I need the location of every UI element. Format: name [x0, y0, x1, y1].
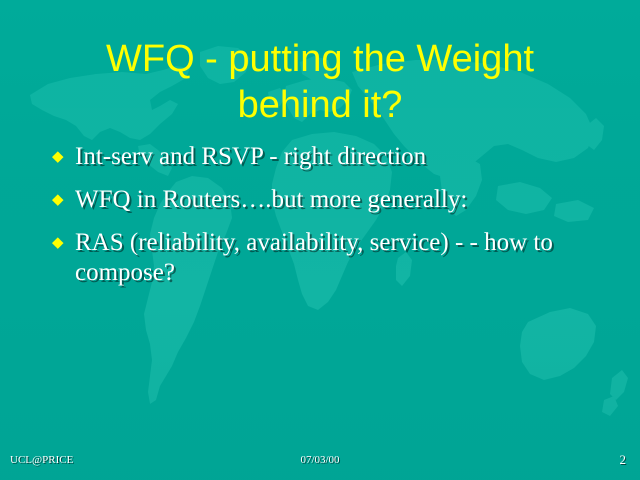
bullet-item: ◆ Int-serv and RSVP - right direction — [52, 142, 608, 172]
slide-footer: UCL@PRICE 07/03/00 2 — [0, 454, 640, 474]
slide-title: WFQ - putting the Weight behind it? — [50, 36, 590, 128]
bullet-item-label: RAS (reliability, availability, service)… — [75, 228, 608, 288]
footer-date: 07/03/00 — [0, 454, 640, 466]
diamond-bullet-icon: ◆ — [52, 185, 75, 207]
bullet-item-label: WFQ in Routers….but more generally: — [75, 185, 608, 215]
bullet-item: ◆ RAS (reliability, availability, servic… — [52, 228, 608, 288]
bullet-item: ◆ WFQ in Routers….but more generally: — [52, 185, 608, 215]
presentation-slide: WFQ - putting the Weight behind it? ◆ In… — [0, 0, 640, 480]
bullet-item-label: Int-serv and RSVP - right direction — [75, 142, 608, 172]
footer-slide-number: 2 — [620, 452, 627, 468]
slide-body-bullet-list: ◆ Int-serv and RSVP - right direction ◆ … — [52, 142, 608, 301]
diamond-bullet-icon: ◆ — [52, 142, 75, 164]
diamond-bullet-icon: ◆ — [52, 228, 75, 250]
